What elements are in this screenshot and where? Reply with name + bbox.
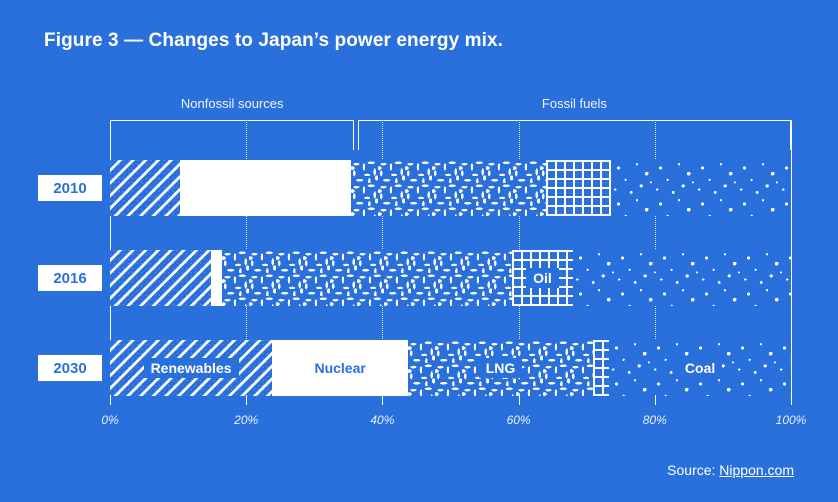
year-label-2010: 2010 [38, 175, 102, 201]
bar-segment-2016-nuclear[interactable] [211, 250, 222, 306]
bar-segment-2030-lng[interactable]: LNG [408, 340, 593, 396]
bar-segment-2010-oil[interactable] [546, 160, 611, 216]
bar-segment-2010-coal[interactable] [611, 160, 791, 216]
bar-segment-2016-oil[interactable]: Oil [512, 250, 573, 306]
stacked-bar-2016: Oil [110, 250, 791, 306]
bar-segment-2016-renewables[interactable] [110, 250, 211, 306]
stacked-bar-2030: RenewablesNuclearLNGCoal [110, 340, 791, 396]
segment-label-nuclear: Nuclear [307, 358, 372, 378]
source-note: Source: Nippon.com [667, 462, 794, 478]
segment-label-coal: Coal [678, 358, 722, 378]
year-label-2030: 2030 [38, 355, 102, 381]
bar-segment-2016-lng[interactable] [222, 250, 512, 306]
stacked-bar-2010 [110, 160, 791, 216]
axis-tick-label-40: 40% [370, 413, 394, 427]
axis-tick-label-100: 100% [776, 413, 807, 427]
source-link[interactable]: Nippon.com [719, 462, 794, 478]
group-label-fossil: Fossil fuels [358, 96, 791, 111]
bar-segment-2030-coal[interactable]: Coal [609, 340, 791, 396]
year-label-2016: 2016 [38, 265, 102, 291]
source-prefix: Source: [667, 462, 719, 478]
bar-row-2030: RenewablesNuclearLNGCoal [110, 340, 791, 396]
gridline-100 [791, 120, 793, 405]
axis-tick-label-0: 0% [101, 413, 118, 427]
axis-tick-label-60: 60% [507, 413, 531, 427]
bar-row-2016: Oil [110, 250, 791, 306]
page-title: Figure 3 — Changes to Japan’s power ener… [44, 30, 503, 52]
axis-tick-0 [110, 395, 111, 405]
axis-tick-label-20: 20% [234, 413, 258, 427]
chart-plot-area: Nonfossil sources Fossil fuels Oil Renew… [110, 95, 791, 405]
axis-tick-100 [791, 395, 792, 405]
segment-label-oil: Oil [526, 268, 559, 288]
axis-tick-40 [382, 395, 383, 405]
x-axis: 0%20%40%60%80%100% [110, 405, 791, 435]
bar-segment-2010-lng[interactable] [351, 160, 546, 216]
bar-segment-2016-coal[interactable] [573, 250, 791, 306]
group-label-nonfossil: Nonfossil sources [110, 96, 354, 111]
bar-segment-2010-renewables[interactable] [110, 160, 180, 216]
segment-label-renewables: Renewables [144, 358, 239, 378]
bar-segment-2030-oil[interactable] [593, 340, 609, 396]
bar-row-2010 [110, 160, 791, 216]
axis-tick-80 [655, 395, 656, 405]
segment-label-lng: LNG [479, 358, 523, 378]
axis-tick-20 [246, 395, 247, 405]
bar-segment-2030-renewables[interactable]: Renewables [110, 340, 272, 396]
axis-tick-60 [519, 395, 520, 405]
axis-tick-label-80: 80% [643, 413, 667, 427]
bar-segment-2030-nuclear[interactable]: Nuclear [272, 340, 408, 396]
bar-segment-2010-nuclear[interactable] [180, 160, 351, 216]
